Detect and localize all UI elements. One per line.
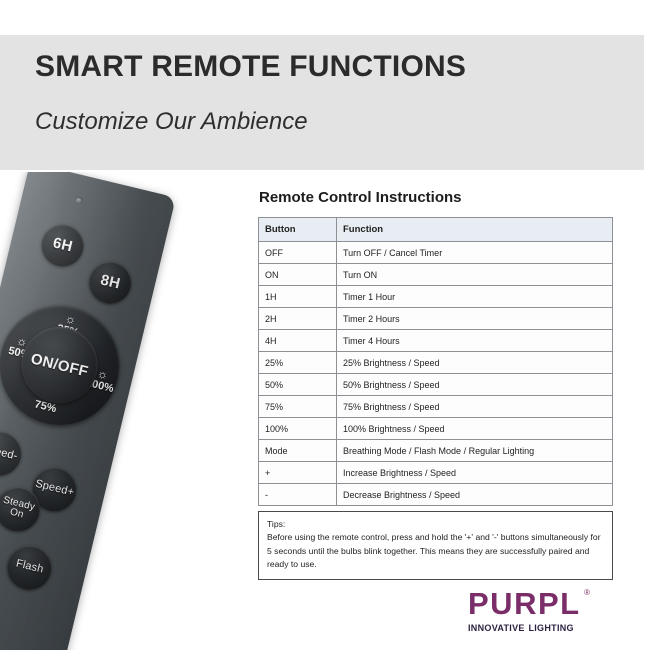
remote-button-flash-label: Flash: [15, 559, 45, 577]
table-row: 100%100% Brightness / Speed: [259, 418, 613, 440]
purpl-logo: PURPL ® Innovative Lighting: [468, 588, 620, 634]
table-row: 75%75% Brightness / Speed: [259, 396, 613, 418]
cell-function: Timer 1 Hour: [337, 286, 613, 308]
remote-button-speed-minus[interactable]: Speed-: [0, 427, 26, 480]
cell-button: ON: [259, 264, 337, 286]
table-row: 1HTimer 1 Hour: [259, 286, 613, 308]
cell-button: 75%: [259, 396, 337, 418]
cell-function: 75% Brightness / Speed: [337, 396, 613, 418]
table-row: 4HTimer 4 Hours: [259, 330, 613, 352]
table-row: OFFTurn OFF / Cancel Timer: [259, 242, 613, 264]
page-title: SMART REMOTE FUNCTIONS: [35, 50, 466, 84]
cell-button: 50%: [259, 374, 337, 396]
instructions-table: Button Function OFFTurn OFF / Cancel Tim…: [258, 217, 613, 506]
instructions-title: Remote Control Instructions: [259, 189, 462, 206]
remote-body: 6H 8H ☼ 25% ☼ 50% ☼ 100% ☼ 75% ON/OFF Sp…: [0, 172, 176, 650]
cell-function: 50% Brightness / Speed: [337, 374, 613, 396]
cell-button: 4H: [259, 330, 337, 352]
table-row: ONTurn ON: [259, 264, 613, 286]
cell-function: Decrease Brightness / Speed: [337, 484, 613, 506]
remote-button-8h[interactable]: 8H: [85, 257, 136, 308]
cell-button: 2H: [259, 308, 337, 330]
instructions-table-body: OFFTurn OFF / Cancel TimerONTurn ON1HTim…: [259, 242, 613, 506]
cell-function: Turn ON: [337, 264, 613, 286]
column-header-button: Button: [259, 218, 337, 242]
remote-button-6h[interactable]: 6H: [37, 220, 88, 271]
cell-function: Timer 2 Hours: [337, 308, 613, 330]
page-subtitle: Customize Our Ambience: [35, 108, 308, 136]
cell-button: +: [259, 462, 337, 484]
table-header-row: Button Function: [259, 218, 613, 242]
table-row: 2HTimer 2 Hours: [259, 308, 613, 330]
registered-trademark-icon: ®: [584, 589, 591, 597]
cell-function: Increase Brightness / Speed: [337, 462, 613, 484]
tips-box: Tips: Before using the remote control, p…: [258, 511, 613, 580]
tips-label: Tips:: [267, 518, 604, 531]
cell-button: OFF: [259, 242, 337, 264]
remote-button-steady-on-label: Steady On: [0, 494, 42, 525]
cell-button: 1H: [259, 286, 337, 308]
remote-button-onoff-label: ON/OFF: [29, 350, 90, 380]
cell-function: Timer 4 Hours: [337, 330, 613, 352]
remote-button-speed-plus-label: Speed+: [34, 479, 75, 499]
logo-wordmark: PURPL ®: [468, 588, 581, 619]
cell-function: Breathing Mode / Flash Mode / Regular Li…: [337, 440, 613, 462]
cell-button: 100%: [259, 418, 337, 440]
cell-function: 25% Brightness / Speed: [337, 352, 613, 374]
cell-button: Mode: [259, 440, 337, 462]
cell-function: 100% Brightness / Speed: [337, 418, 613, 440]
table-row: 50%50% Brightness / Speed: [259, 374, 613, 396]
table-row: ModeBreathing Mode / Flash Mode / Regula…: [259, 440, 613, 462]
remote-button-speed-minus-label: Speed-: [0, 443, 18, 463]
remote-button-8h-label: 8H: [99, 273, 122, 293]
tips-text: Before using the remote control, press a…: [267, 532, 601, 569]
remote-button-flash[interactable]: Flash: [3, 541, 56, 594]
logo-wordmark-text: PURPL: [468, 586, 581, 621]
column-header-function: Function: [337, 218, 613, 242]
cell-button: -: [259, 484, 337, 506]
remote-button-6h-label: 6H: [51, 235, 74, 255]
cell-button: 25%: [259, 352, 337, 374]
cell-function: Turn OFF / Cancel Timer: [337, 242, 613, 264]
remote-control-image: 6H 8H ☼ 25% ☼ 50% ☼ 100% ☼ 75% ON/OFF Sp…: [0, 172, 250, 650]
table-row: -Decrease Brightness / Speed: [259, 484, 613, 506]
table-row: 25%25% Brightness / Speed: [259, 352, 613, 374]
led-indicator: [75, 196, 83, 204]
logo-tagline: Innovative Lighting: [468, 620, 620, 634]
table-row: +Increase Brightness / Speed: [259, 462, 613, 484]
